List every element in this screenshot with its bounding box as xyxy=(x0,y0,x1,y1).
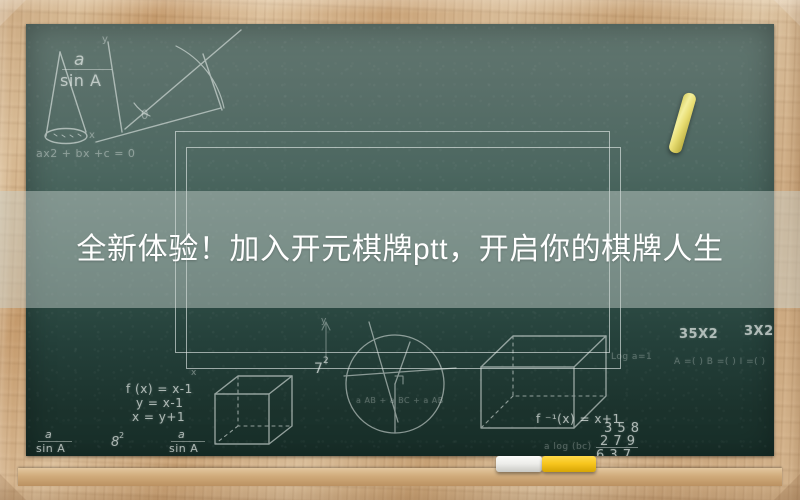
chalk-sine-b-2: sin A xyxy=(169,442,198,455)
chalk-fraction-sin: sin A xyxy=(60,71,101,90)
chalk-fx-line: f (x) = x-1 xyxy=(126,382,193,396)
chalk-log-bc: a log (bc) xyxy=(544,442,592,452)
chalk-eight-exponent: 2 xyxy=(119,431,125,440)
chalk-sine-a-2: a xyxy=(178,428,185,441)
chalk-axis-y-label: y xyxy=(102,34,108,45)
chalk-eight: 8 xyxy=(111,435,120,450)
chalk-sum-row-1: 3 5 8 xyxy=(604,421,640,436)
chalk-inverse-function: f ⁻¹(x) = x+1 xyxy=(536,412,621,426)
ledge-yellow-chalk-icon xyxy=(542,456,596,472)
chalk-axis-x-label-right: x xyxy=(191,368,197,378)
chalk-matrix-label-2: 3X2 xyxy=(744,324,774,339)
chalk-y-equation: y = x-1 xyxy=(136,396,183,410)
misc-tick-marks xyxy=(322,322,330,364)
chalk-seven-exponent: 2 xyxy=(323,356,329,366)
blackboard-banner: a sin A y x θ ax2 + bx +c = 0 f (x) = x-… xyxy=(0,0,800,500)
chalk-axis-y-label-right: y xyxy=(321,316,327,326)
chalk-x-equation: x = y+1 xyxy=(132,410,185,424)
chalk-matrix-label-1: 35X2 xyxy=(679,327,718,342)
cone-drawing xyxy=(45,52,87,144)
headline-band: 全新体验！加入开元棋牌ptt，开启你的棋牌人生 xyxy=(0,191,800,308)
chalk-sine-bar-2 xyxy=(171,441,205,442)
cube-drawing xyxy=(215,376,292,444)
chalk-quadratic-equation: ax2 + bx +c = 0 xyxy=(36,147,135,160)
chalk-sine-a-1: a xyxy=(45,428,52,441)
cube-drawing-right xyxy=(481,336,606,428)
chalk-sine-b-1: sin A xyxy=(36,442,65,455)
page-title: 全新体验！加入开元棋牌ptt，开启你的棋牌人生 xyxy=(76,232,723,268)
chalk-sine-bar-1 xyxy=(38,441,72,442)
circle-angle-drawing xyxy=(344,322,456,433)
chalk-aab-expression: a AB + a BC + a AB xyxy=(356,396,444,405)
chalk-matrix-row: A =( ) B =( ) I =( ) xyxy=(674,357,766,367)
chalk-sum-row-3: 6 3 7 xyxy=(596,448,632,456)
chalk-fraction-bar xyxy=(62,69,112,70)
ledge-white-chalk-icon xyxy=(496,456,542,472)
chalk-sum-row-2: 2 7 9 xyxy=(600,434,636,449)
angle-axes-drawing xyxy=(96,30,241,142)
chalk-seven: 7 xyxy=(314,361,323,377)
chalk-axis-x-label: x xyxy=(89,130,95,141)
chalk-angle-label: θ xyxy=(141,108,149,122)
chalk-fraction-a: a xyxy=(74,50,85,70)
chalk-ledge xyxy=(18,468,782,486)
chalk-log-a: Log a=1 xyxy=(611,352,652,362)
chalk-sum-bar xyxy=(596,447,638,448)
